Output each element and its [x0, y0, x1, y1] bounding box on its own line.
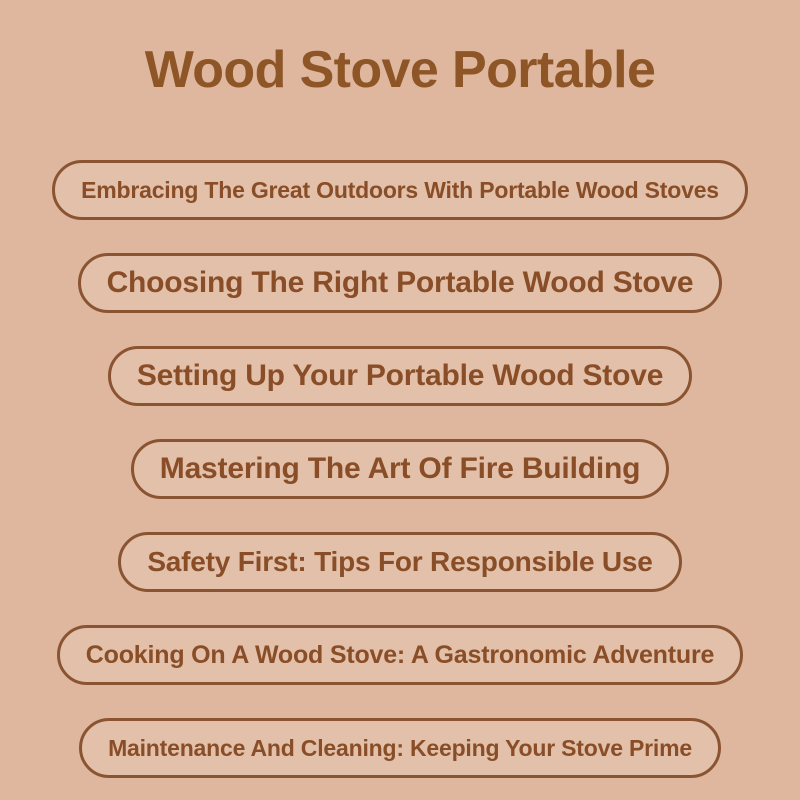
topic-pill-7[interactable]: Maintenance And Cleaning: Keeping Your S… [79, 718, 721, 778]
topic-pill-4-label: Mastering The Art Of Fire Building [160, 454, 640, 484]
topic-pill-5-label: Safety First: Tips For Responsible Use [147, 548, 652, 576]
topic-pill-3[interactable]: Setting Up Your Portable Wood Stove [108, 346, 692, 406]
topic-pill-1-label: Embracing The Great Outdoors With Portab… [81, 179, 719, 202]
topic-pill-7-label: Maintenance And Cleaning: Keeping Your S… [108, 737, 692, 760]
topic-list: Embracing The Great Outdoors With Portab… [0, 160, 800, 778]
topic-pill-6[interactable]: Cooking On A Wood Stove: A Gastronomic A… [57, 625, 743, 685]
topic-pill-4[interactable]: Mastering The Art Of Fire Building [131, 439, 669, 499]
poster-canvas: Wood Stove Portable Embracing The Great … [0, 0, 800, 800]
topic-pill-3-label: Setting Up Your Portable Wood Stove [137, 361, 663, 391]
topic-pill-2-label: Choosing The Right Portable Wood Stove [107, 268, 694, 298]
page-title-container: Wood Stove Portable [0, 42, 800, 98]
topic-pill-5[interactable]: Safety First: Tips For Responsible Use [118, 532, 681, 592]
topic-pill-1[interactable]: Embracing The Great Outdoors With Portab… [52, 160, 748, 220]
topic-pill-2[interactable]: Choosing The Right Portable Wood Stove [78, 253, 723, 313]
topic-pill-6-label: Cooking On A Wood Stove: A Gastronomic A… [86, 643, 714, 668]
page-title: Wood Stove Portable [145, 42, 656, 98]
